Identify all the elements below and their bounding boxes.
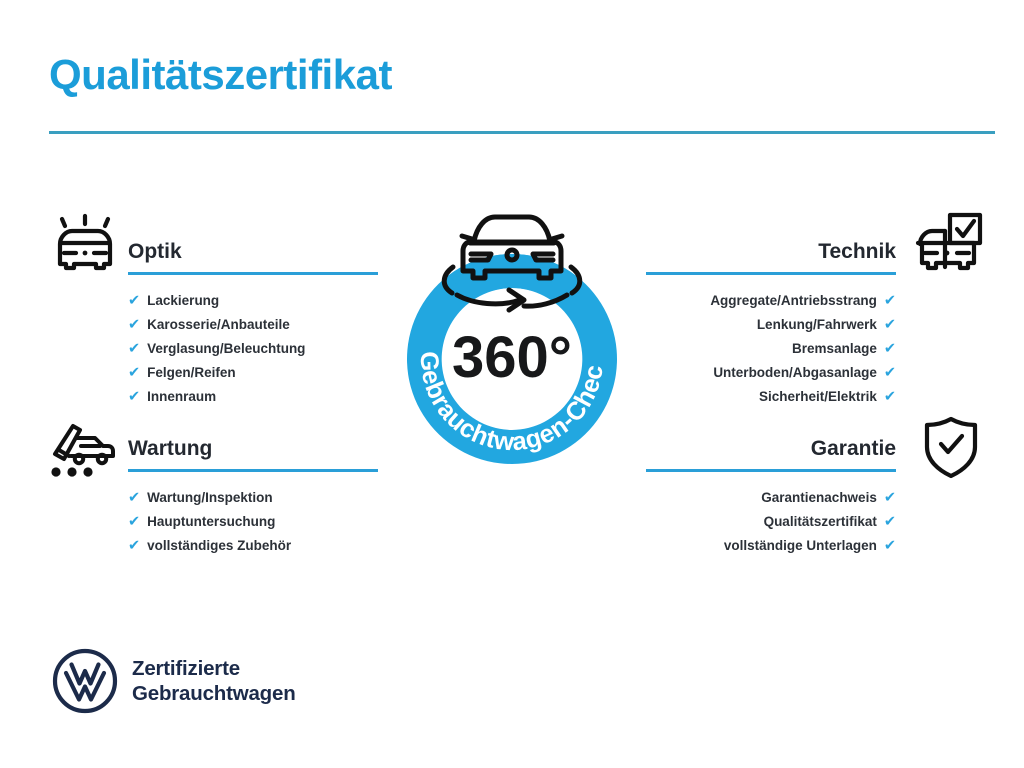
- check-icon: ✔: [884, 491, 896, 506]
- list-item-label: Unterboden/Abgasanlage: [713, 361, 877, 385]
- list-item-label: Qualitätszertifikat: [764, 510, 877, 534]
- list-item-label: Innenraum: [147, 385, 216, 409]
- check-icon: ✔: [884, 390, 896, 405]
- vw-logo-icon: [52, 648, 118, 714]
- check-icon: ✔: [128, 318, 140, 333]
- check-icon: ✔: [128, 342, 140, 357]
- page-title: Qualitätszertifikat: [49, 52, 392, 98]
- list-item-label: Felgen/Reifen: [147, 361, 236, 385]
- list-item-label: Aggregate/Antriebsstrang: [710, 289, 877, 313]
- list-item-label: Hauptuntersuchung: [147, 510, 275, 534]
- list-item-label: Bremsanlage: [792, 337, 877, 361]
- check-icon: ✔: [884, 539, 896, 554]
- footer-line-2: Gebrauchtwagen: [132, 681, 296, 706]
- check-icon: ✔: [884, 366, 896, 381]
- check-icon: ✔: [128, 491, 140, 506]
- check-icon: ✔: [128, 515, 140, 530]
- list-item-label: Sicherheit/Elektrik: [759, 385, 877, 409]
- check-icon: ✔: [884, 342, 896, 357]
- title-divider: [49, 131, 995, 134]
- list-item: ✔Hauptuntersuchung: [128, 510, 428, 534]
- list-item-label: Verglasung/Beleuchtung: [147, 337, 305, 361]
- car-checkbox-icon: [912, 211, 986, 277]
- car-service-pen-icon: [45, 414, 119, 480]
- list-item-label: Wartung/Inspektion: [147, 486, 273, 510]
- shield-check-icon: [914, 414, 988, 480]
- list-item-label: vollständige Unterlagen: [724, 534, 877, 558]
- list-item: vollständige Unterlagen✔: [596, 534, 896, 558]
- footer-logo: Zertifizierte Gebrauchtwagen: [52, 648, 296, 714]
- check-icon: ✔: [884, 515, 896, 530]
- footer-line-1: Zertifizierte: [132, 656, 296, 681]
- list-item-label: Lackierung: [147, 289, 219, 313]
- section-divider-garantie: [646, 469, 896, 472]
- list-item: Qualitätszertifikat✔: [596, 510, 896, 534]
- section-divider-technik: [646, 272, 896, 275]
- list-item-label: Karosserie/Anbauteile: [147, 313, 290, 337]
- check-icon: ✔: [128, 390, 140, 405]
- check-icon: ✔: [128, 366, 140, 381]
- section-divider-optik: [128, 272, 378, 275]
- list-item-label: Lenkung/Fahrwerk: [757, 313, 877, 337]
- checklist-garantie: Garantienachweis✔ Qualitätszertifikat✔ v…: [596, 486, 896, 558]
- list-item: ✔vollständiges Zubehör: [128, 534, 428, 558]
- car-shine-icon: [48, 212, 122, 278]
- badge-360-gebrauchtwagen-check: 360° Gebrauchtwagen-Check: [378, 196, 646, 492]
- list-item-label: Garantienachweis: [761, 486, 877, 510]
- list-item-label: vollständiges Zubehör: [147, 534, 291, 558]
- badge-degrees-label: 360°: [452, 325, 572, 390]
- check-icon: ✔: [128, 294, 140, 309]
- footer-text-block: Zertifizierte Gebrauchtwagen: [132, 656, 296, 706]
- checklist-wartung: ✔Wartung/Inspektion ✔Hauptuntersuchung ✔…: [128, 486, 428, 558]
- check-icon: ✔: [884, 294, 896, 309]
- check-icon: ✔: [884, 318, 896, 333]
- section-divider-wartung: [128, 469, 378, 472]
- check-icon: ✔: [128, 539, 140, 554]
